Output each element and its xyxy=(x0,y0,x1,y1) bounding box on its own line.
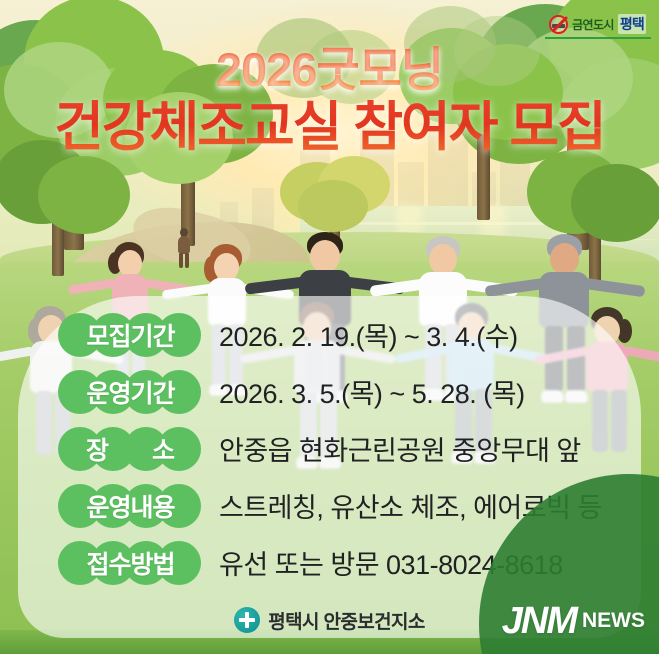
info-row-label: 모집기간 xyxy=(86,317,174,353)
medical-cross-icon xyxy=(234,607,260,633)
organization-name: 평택시 안중보건지소 xyxy=(268,607,425,634)
watermark-secondary: NEWS xyxy=(582,604,645,638)
jnm-news-watermark: JNM NEWS xyxy=(502,604,645,638)
info-row-label: 운영기간 xyxy=(86,374,174,410)
info-row: 장 소 안중읍 현화근린공원 중앙무대 앞 xyxy=(0,420,659,477)
no-smoking-icon xyxy=(549,15,568,34)
info-row: 운영기간 2026. 3. 5.(목) ~ 5. 28. (목) xyxy=(0,363,659,420)
logo-text-left: 금연도시 xyxy=(572,16,614,33)
info-row-value: 2026. 3. 5.(목) ~ 5. 28. (목) xyxy=(219,372,525,411)
info-row-label-pill: 운영기간 xyxy=(58,370,203,414)
info-row-label: 접수방법 xyxy=(86,545,174,581)
poster-root: 금연도시 평택 2026굿모닝 건강체조교실 참여자 모집 모집기간 2026.… xyxy=(0,0,659,654)
title-line-1: 2026굿모닝 xyxy=(0,46,659,94)
watermark-primary: JNM xyxy=(502,605,576,638)
info-row-label-pill: 운영내용 xyxy=(58,484,203,528)
logo-text-right: 평택 xyxy=(618,14,646,34)
info-row-value: 2026. 2. 19.(목) ~ 3. 4.(수) xyxy=(219,315,518,354)
info-row-label-pill: 장 소 xyxy=(58,427,203,471)
info-row-value: 안중읍 현화근린공원 중앙무대 앞 xyxy=(219,429,581,468)
info-row-label-pill: 모집기간 xyxy=(58,313,203,357)
no-smoking-city-logo: 금연도시 평택 xyxy=(545,12,651,39)
tree-middle-yellow xyxy=(276,150,396,245)
info-row: 모집기간 2026. 2. 19.(목) ~ 3. 4.(수) xyxy=(0,306,659,363)
poster-title-block: 2026굿모닝 건강체조교실 참여자 모집 xyxy=(0,46,659,155)
info-row-label-pill: 접수방법 xyxy=(58,541,203,585)
title-line-2: 건강체조교실 참여자 모집 xyxy=(0,100,659,155)
info-row-label: 장 소 xyxy=(68,431,193,467)
info-row-label: 운영내용 xyxy=(86,488,174,524)
